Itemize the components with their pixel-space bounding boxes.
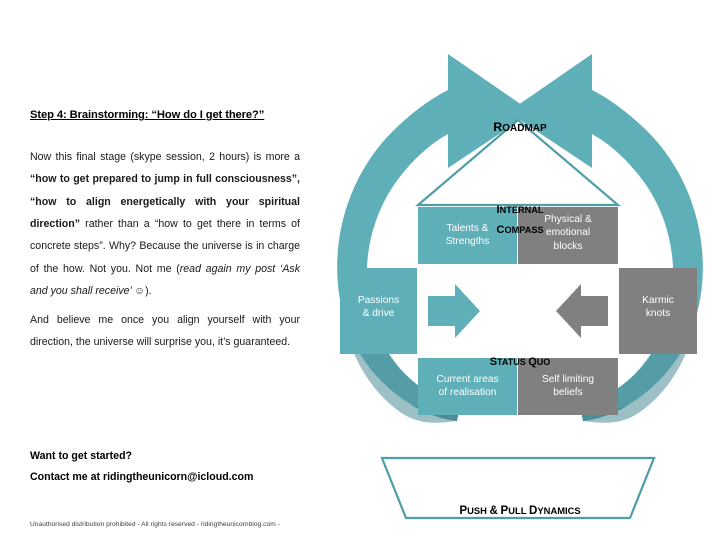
page-title: Step 4: Brainstorming: “How do I get the… (30, 108, 300, 124)
text-run: And believe me once you align yourself w… (30, 314, 300, 348)
diagram-graphics (320, 40, 720, 520)
cell-rect-passions[interactable] (340, 268, 417, 354)
cta-contact: Contact me at ridingtheunicorn@icloud.co… (30, 467, 350, 488)
arrow-right-icon (428, 284, 480, 338)
paragraph-1: Now this final stage (skype session, 2 h… (30, 146, 300, 303)
cell-rect-talents[interactable] (418, 207, 517, 264)
cell-rect-selflimit[interactable] (518, 358, 618, 415)
cell-rect-karmic[interactable] (619, 268, 697, 354)
paragraph-2: And believe me once you align yourself w… (30, 309, 300, 353)
slide-canvas: Step 4: Brainstorming: “How do I get the… (0, 0, 720, 540)
footer-copyright: Unauthorised distribution prohibited - A… (30, 521, 280, 528)
cell-rect-physical[interactable] (518, 207, 618, 264)
cycle-diagram: ROADMAP INTERNAL COMPASS STATUS QUO PUSH… (320, 40, 720, 520)
text-run: Now this final stage (skype session, 2 h… (30, 151, 300, 163)
arrow-left-icon (556, 284, 608, 338)
cta-question: Want to get started? (30, 446, 350, 467)
text-column: Step 4: Brainstorming: “How do I get the… (30, 108, 300, 359)
text-run: ). (145, 285, 151, 297)
call-to-action: Want to get started? Contact me at ridin… (30, 446, 350, 487)
cell-rect-current[interactable] (418, 358, 517, 415)
trapezoid-icon (382, 458, 654, 518)
